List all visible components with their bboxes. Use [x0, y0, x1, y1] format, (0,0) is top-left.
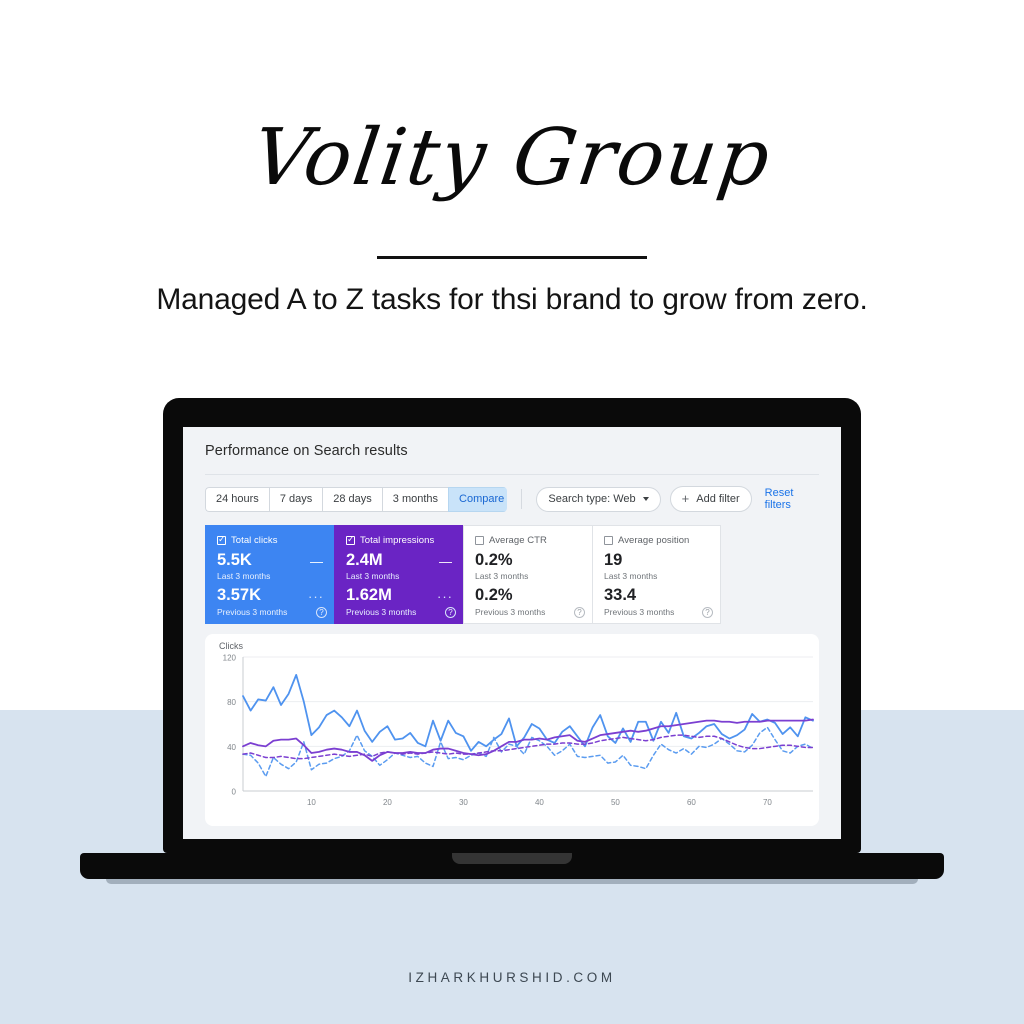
- card-title: Total clicks: [231, 535, 278, 546]
- svg-text:60: 60: [687, 798, 696, 807]
- card-header: Total clicks: [217, 535, 324, 546]
- checkbox-icon[interactable]: [475, 536, 484, 545]
- solid-line-marker-icon: —: [439, 554, 453, 569]
- performance-chart-card: Clicks 0408012010203040506070: [205, 634, 819, 826]
- svg-text:50: 50: [611, 798, 620, 807]
- card-current-row: 19: [604, 546, 710, 569]
- card-previous-row: 33.4: [604, 581, 710, 604]
- card-current-period: Last 3 months: [604, 571, 710, 581]
- svg-text:70: 70: [763, 798, 772, 807]
- card-previous-row: 0.2%: [475, 581, 582, 604]
- svg-text:80: 80: [227, 698, 236, 707]
- svg-text:30: 30: [459, 798, 468, 807]
- page-title: Performance on Search results: [205, 443, 819, 459]
- help-icon[interactable]: ?: [445, 607, 456, 618]
- dashed-line-marker-icon: ···: [308, 589, 324, 604]
- card-current-row: 0.2%: [475, 546, 582, 569]
- card-header: Average position: [604, 535, 710, 546]
- svg-text:0: 0: [232, 788, 237, 797]
- search-type-filter[interactable]: Search type: Web: [536, 487, 660, 512]
- card-previous-period: Previous 3 months: [346, 607, 453, 617]
- metric-card-average-ctr[interactable]: Average CTR 0.2% Last 3 months 0.2% Prev…: [463, 525, 592, 624]
- card-previous-row: 3.57K ···: [217, 581, 324, 604]
- app-header: Performance on Search results: [183, 427, 841, 475]
- date-range-28-days[interactable]: 28 days: [322, 487, 382, 512]
- metric-cards: Total clicks 5.5K — Last 3 months 3.57K …: [183, 525, 841, 624]
- brand-logo: Volity Group: [0, 118, 1024, 200]
- card-current-value: 2.4M: [346, 552, 383, 569]
- plus-icon: +: [682, 492, 690, 505]
- card-previous-period: Previous 3 months: [475, 607, 582, 617]
- date-range-segmented-control[interactable]: 24 hours 7 days 28 days 3 months Compare: [205, 487, 507, 512]
- card-current-value: 5.5K: [217, 552, 252, 569]
- card-header: Average CTR: [475, 535, 582, 546]
- search-type-label: Search type: Web: [548, 493, 635, 505]
- metric-card-average-position[interactable]: Average position 19 Last 3 months 33.4 P…: [592, 525, 721, 624]
- date-range-24-hours[interactable]: 24 hours: [205, 487, 269, 512]
- svg-text:20: 20: [383, 798, 392, 807]
- site-footer: IZHARKHURSHID.COM: [0, 970, 1024, 985]
- reset-filters-link[interactable]: Reset filters: [765, 487, 819, 511]
- help-icon[interactable]: ?: [316, 607, 327, 618]
- card-title: Average position: [618, 535, 689, 546]
- compare-button[interactable]: Compare: [448, 487, 507, 512]
- card-previous-value: 0.2%: [475, 587, 513, 604]
- svg-text:120: 120: [223, 654, 237, 663]
- card-previous-period: Previous 3 months: [217, 607, 324, 617]
- chart-metric-label: Clicks: [219, 641, 243, 651]
- card-previous-value: 3.57K: [217, 587, 261, 604]
- date-range-7-days[interactable]: 7 days: [269, 487, 322, 512]
- chevron-down-icon: [643, 497, 649, 501]
- laptop-trackpad-notch: [452, 853, 572, 864]
- card-title: Total impressions: [360, 535, 434, 546]
- card-current-value: 0.2%: [475, 552, 513, 569]
- checkbox-icon[interactable]: [217, 536, 226, 545]
- laptop-shadow: [106, 879, 918, 884]
- tagline: Managed A to Z tasks for thsi brand to g…: [132, 280, 892, 320]
- dashed-line-marker-icon: ···: [437, 589, 453, 604]
- help-icon[interactable]: ?: [702, 607, 713, 618]
- card-previous-period: Previous 3 months: [604, 607, 710, 617]
- add-filter-button[interactable]: + Add filter: [670, 486, 752, 512]
- svg-text:40: 40: [535, 798, 544, 807]
- svg-text:40: 40: [227, 743, 236, 752]
- solid-line-marker-icon: —: [310, 554, 324, 569]
- svg-text:10: 10: [307, 798, 316, 807]
- card-current-period: Last 3 months: [475, 571, 582, 581]
- toolbar-separator: [521, 489, 522, 509]
- card-previous-value: 1.62M: [346, 587, 392, 604]
- card-title: Average CTR: [489, 535, 547, 546]
- card-previous-row: 1.62M ···: [346, 581, 453, 604]
- brand-divider: [377, 256, 647, 259]
- card-current-period: Last 3 months: [217, 571, 324, 581]
- card-previous-value: 33.4: [604, 587, 636, 604]
- card-current-row: 2.4M —: [346, 546, 453, 569]
- checkbox-icon[interactable]: [604, 536, 613, 545]
- compare-label: Compare: [459, 493, 504, 505]
- card-current-period: Last 3 months: [346, 571, 453, 581]
- checkbox-icon[interactable]: [346, 536, 355, 545]
- metric-card-total-clicks[interactable]: Total clicks 5.5K — Last 3 months 3.57K …: [205, 525, 334, 624]
- help-icon[interactable]: ?: [574, 607, 585, 618]
- chart-section: Clicks 0408012010203040506070: [183, 624, 841, 839]
- laptop-mockup: Performance on Search results 24 hours 7…: [80, 398, 944, 893]
- add-filter-label: Add filter: [696, 493, 739, 505]
- filter-toolbar: 24 hours 7 days 28 days 3 months Compare…: [183, 475, 841, 525]
- card-current-row: 5.5K —: [217, 546, 324, 569]
- performance-line-chart: 0408012010203040506070: [205, 643, 819, 821]
- metric-card-total-impressions[interactable]: Total impressions 2.4M — Last 3 months 1…: [334, 525, 463, 624]
- card-header: Total impressions: [346, 535, 453, 546]
- card-current-value: 19: [604, 552, 622, 569]
- laptop-screen: Performance on Search results 24 hours 7…: [183, 427, 841, 839]
- date-range-3-months[interactable]: 3 months: [382, 487, 448, 512]
